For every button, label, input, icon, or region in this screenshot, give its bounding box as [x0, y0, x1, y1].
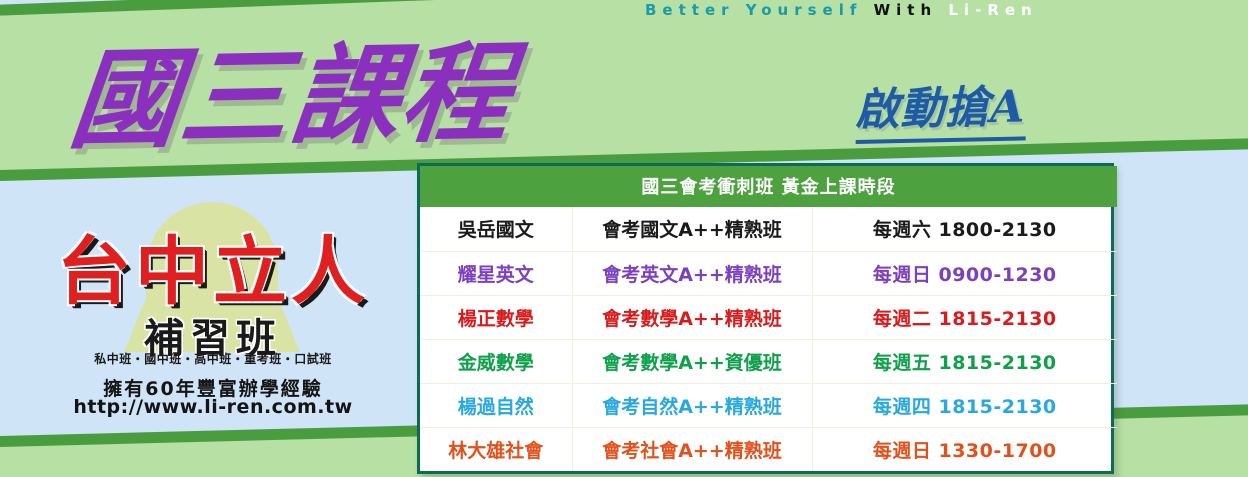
- table-row: 林大雄社會會考社會A++精熟班每週日 1330-1700: [420, 427, 1117, 471]
- cell-time: 每週日 1330-1700: [812, 427, 1117, 471]
- tagline: Better Yourself With Li-Ren: [645, 1, 1038, 19]
- cell-course: 會考數學A++精熟班: [572, 295, 812, 339]
- cell-teacher: 耀星英文: [420, 251, 572, 295]
- tagline-part-1: Better Yourself: [645, 1, 862, 19]
- logo-name: 台中立人: [38, 212, 388, 319]
- logo-class-list: 私中班・國中班・高中班・重考班・口試班: [38, 350, 388, 367]
- cell-course: 會考英文A++精熟班: [572, 251, 812, 295]
- cell-course: 會考數學A++資優班: [572, 339, 812, 383]
- table-row: 耀星英文會考英文A++精熟班每週日 0900-1230: [420, 251, 1117, 295]
- table-header-row: 國三會考衝刺班 黃金上課時段: [420, 166, 1117, 207]
- schedule-table: 國三會考衝刺班 黃金上課時段 吳岳國文會考國文A++精熟班每週六 1800-21…: [420, 166, 1117, 471]
- tagline-part-3: Li-Ren: [948, 1, 1037, 19]
- cell-time: 每週五 1815-2130: [812, 339, 1117, 383]
- table-row: 楊正數學會考數學A++精熟班每週二 1815-2130: [420, 295, 1117, 339]
- poster-canvas: Better Yourself With Li-Ren 國三課程 啟動搶A 台中…: [0, 0, 1248, 477]
- schedule-header-title: 國三會考衝刺班 黃金上課時段: [420, 166, 1117, 207]
- cell-time: 每週四 1815-2130: [812, 383, 1117, 427]
- cell-teacher: 楊過自然: [420, 383, 572, 427]
- cell-time: 每週日 0900-1230: [812, 251, 1117, 295]
- cell-course: 會考社會A++精熟班: [572, 427, 812, 471]
- cell-teacher: 金威數學: [420, 339, 572, 383]
- cell-course: 會考國文A++精熟班: [572, 207, 812, 251]
- logo-website: http://www.li-ren.com.tw: [38, 396, 388, 418]
- table-row: 楊過自然會考自然A++精熟班每週四 1815-2130: [420, 383, 1117, 427]
- schedule-table-body: 吳岳國文會考國文A++精熟班每週六 1800-2130耀星英文會考英文A++精熟…: [420, 207, 1117, 471]
- schedule-table-container: 國三會考衝刺班 黃金上課時段 吳岳國文會考國文A++精熟班每週六 1800-21…: [417, 163, 1114, 474]
- tagline-part-2: With: [874, 1, 938, 19]
- table-row: 金威數學會考數學A++資優班每週五 1815-2130: [420, 339, 1117, 383]
- cell-time: 每週六 1800-2130: [812, 207, 1117, 251]
- page-subtitle: 啟動搶A: [854, 70, 1026, 144]
- cell-teacher: 吳岳國文: [420, 207, 572, 251]
- logo: 台中立人 補習班 私中班・國中班・高中班・重考班・口試班 擁有60年豐富辦學經驗…: [38, 198, 388, 413]
- cell-teacher: 楊正數學: [420, 295, 572, 339]
- cell-time: 每週二 1815-2130: [812, 295, 1117, 339]
- cell-teacher: 林大雄社會: [420, 427, 572, 471]
- page-title: 國三課程: [64, 6, 521, 170]
- cell-course: 會考自然A++精熟班: [572, 383, 812, 427]
- table-row: 吳岳國文會考國文A++精熟班每週六 1800-2130: [420, 207, 1117, 251]
